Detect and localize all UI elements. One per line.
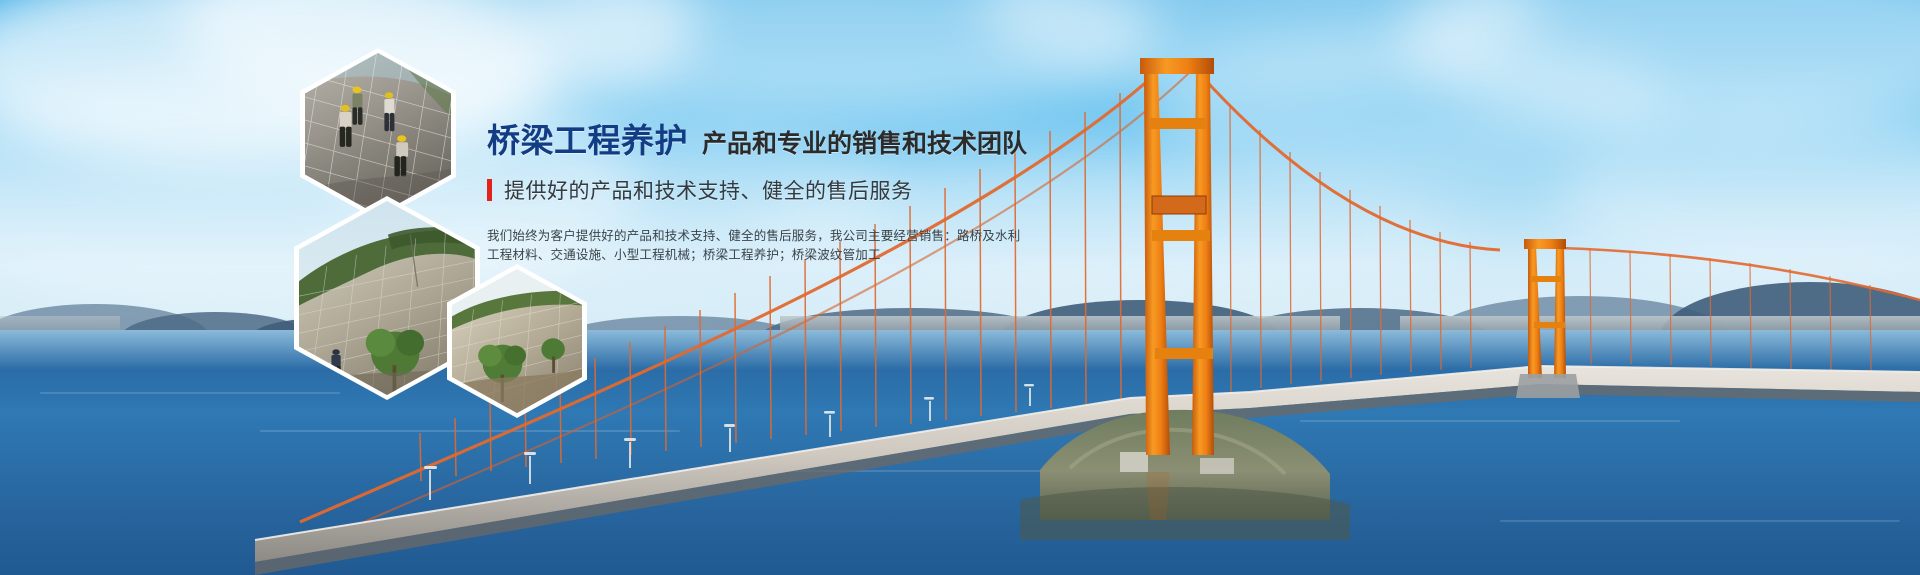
roadside-slope-mesh-image (452, 269, 582, 413)
water-streak (40, 392, 340, 394)
water-streak (1500, 520, 1900, 522)
water-streak (1300, 420, 1680, 422)
banner-subtitle-row: 提供好的产品和技术支持、健全的售后服务 (487, 175, 1007, 205)
banner-copy: 桥梁工程养护产品和专业的销售和技术团队 提供好的产品和技术支持、健全的售后服务 … (487, 124, 1007, 265)
banner-subtitle: 提供好的产品和技术支持、健全的售后服务 (504, 175, 913, 205)
water-streak (700, 470, 1220, 472)
slope-netting-workers-image (305, 53, 451, 215)
banner-headline: 桥梁工程养护产品和专业的销售和技术团队 (487, 124, 1007, 157)
banner-body: 我们始终为客户提供好的产品和技术支持、健全的售后服务，我公司主要经营销售：路桥及… (487, 227, 1007, 265)
hexagon-photo-inner (452, 269, 582, 413)
accent-bar-icon (487, 179, 492, 201)
hero-banner: 桥梁工程养护产品和专业的销售和技术团队 提供好的产品和技术支持、健全的售后服务 … (0, 0, 1920, 575)
banner-body-line-2: 工程材料、交通设施、小型工程机械；桥梁工程养护；桥梁波纹管加工 (487, 246, 1007, 265)
hexagon-photo-inner (305, 53, 451, 215)
sea-glint (0, 330, 1920, 370)
headline-primary: 桥梁工程养护 (487, 122, 688, 159)
water-streak (260, 430, 680, 432)
banner-body-line-1: 我们始终为客户提供好的产品和技术支持、健全的售后服务，我公司主要经营销售：路桥及… (487, 227, 1007, 246)
headline-secondary: 产品和专业的销售和技术团队 (702, 130, 1027, 158)
